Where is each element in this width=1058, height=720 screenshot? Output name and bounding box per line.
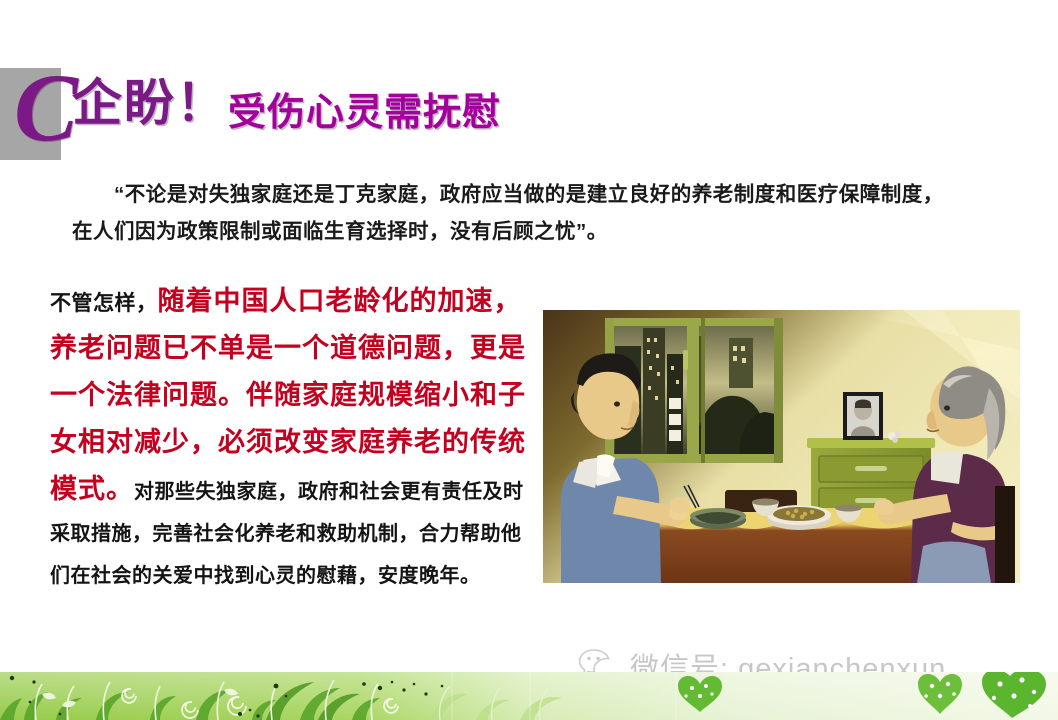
body-paragraph: 不管怎样，随着中国人口老龄化的加速，养老问题已不单是一个道德问题，更是一个法律问… xyxy=(50,280,528,599)
green-grass-border xyxy=(0,672,1058,720)
grass-watercolor-artwork xyxy=(0,672,1058,720)
slide-header: C 企盼！ 受伤心灵需抚慰 xyxy=(0,68,1058,160)
slide-canvas: C 企盼！ 受伤心灵需抚慰 “不论是对失独家庭还是丁克家庭，政府应当做的是建立良… xyxy=(0,0,1058,720)
section-letter-c: C xyxy=(14,62,76,154)
quote-line-1: “不论是对失独家庭还是丁克家庭，政府应当做的是建立良好的养老制度和医疗保障制度， xyxy=(72,176,972,213)
illustration-elderly-couple xyxy=(543,310,1020,583)
body-lead-text: 不管怎样， xyxy=(50,292,158,315)
quote-line-2: 在人们因为政策限制或面临生育选择时，没有后顾之忧”。 xyxy=(72,213,972,250)
page-title: 企盼！ xyxy=(72,70,228,136)
quote-paragraph: “不论是对失独家庭还是丁克家庭，政府应当做的是建立良好的养老制度和医疗保障制度，… xyxy=(72,176,972,250)
illustration-artwork xyxy=(543,310,1020,583)
body-emphasis-text: 随着中国人口老龄化的加速，养老问题已不单是一个道德问题，更是一个法律问题。伴随家… xyxy=(50,286,526,504)
page-subtitle: 受伤心灵需抚慰 xyxy=(228,90,501,136)
